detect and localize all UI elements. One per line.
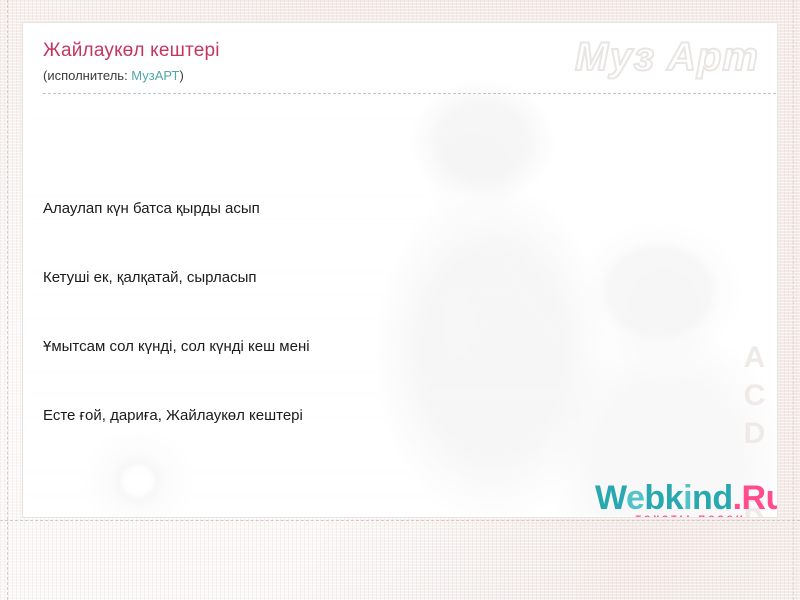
site-logo-wordmark: Webkind.Ru [595, 481, 778, 515]
artist-line: (исполнитель: МузАРТ) [43, 67, 757, 84]
site-logo[interactable]: Webkind.Ru тексты песен [595, 481, 778, 518]
lyrics-line: Есте ғой, дариға, Жайлаукөл кештері [43, 404, 757, 427]
lyrics-line: Ұмытсам сол күнді, сол күнді кеш мені [43, 335, 757, 358]
lyrics-line: Кетуші ек, қалқатай, сырласып [43, 266, 757, 289]
artist-prefix-label: (исполнитель: [43, 68, 131, 83]
song-header: Жайлаукөл кештері (исполнитель: МузАРТ) [43, 39, 757, 84]
frame-dashed-line-right [793, 0, 794, 600]
lyrics-line: Алаулап күн батса қырды асып [43, 197, 757, 220]
page-title: Жайлаукөл кештері [43, 39, 757, 63]
artist-link[interactable]: МузАРТ [131, 68, 179, 83]
header-separator [43, 93, 776, 94]
lyrics-content-panel: Муз Арт ACD REC Жайлаукөл кештері (испол… [22, 22, 778, 518]
artist-suffix-label: ) [179, 68, 183, 83]
lyrics-body: Алаулап күн батса қырды асып Кетуші ек, … [43, 105, 757, 518]
frame-dashed-line-left [7, 0, 8, 600]
frame-dashed-line-bottom [0, 520, 800, 521]
logo-part-w: W [595, 479, 626, 517]
lyrics-stanza: Алаулап күн батса қырды асып Кетуші ек, … [43, 151, 757, 473]
